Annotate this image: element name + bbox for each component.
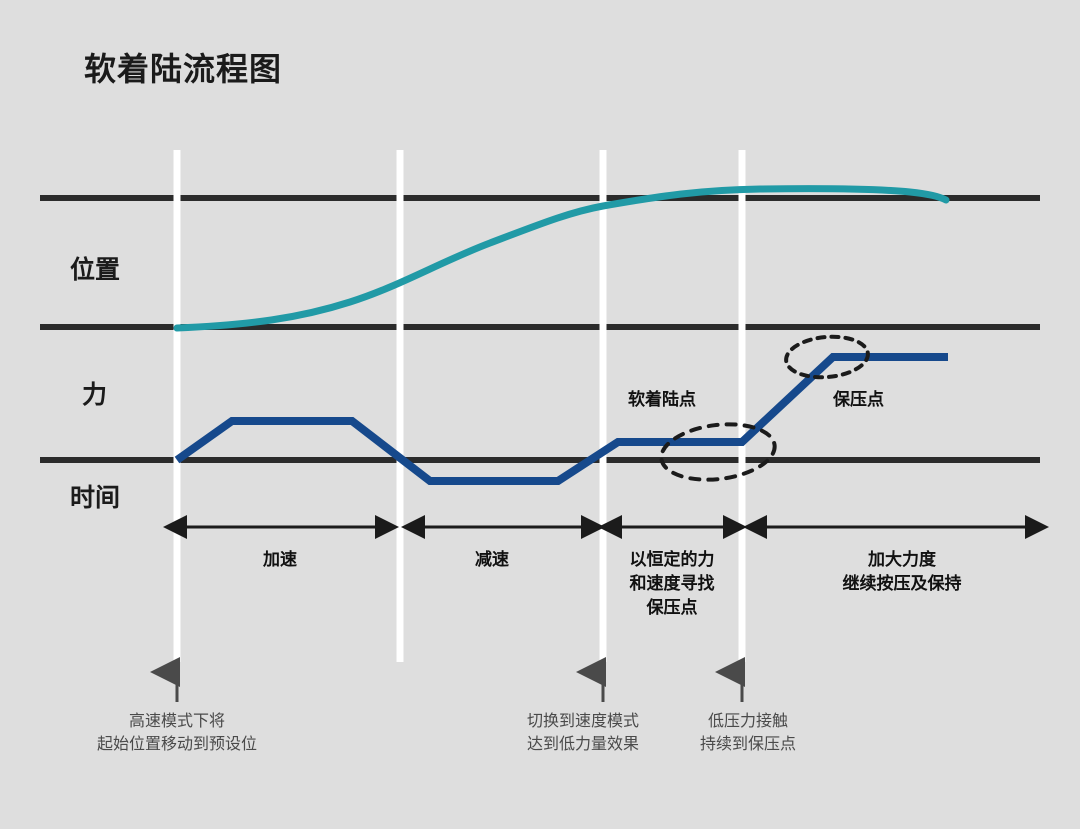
flow-chart-svg <box>0 0 1080 829</box>
phase-label-accelerate: 加速 <box>200 548 360 572</box>
callout-soft-landing-point: 软着陆点 <box>628 385 696 410</box>
axis-label-time: 时间 <box>70 478 120 514</box>
event-arrows <box>177 672 742 702</box>
phase-label-increase-force-hold: 加大力度 继续按压及保持 <box>792 548 1012 596</box>
note-switch-to-speed-mode: 切换到速度模式 达到低力量效果 <box>498 710 668 756</box>
note-start-position-move: 高速模式下将 起始位置移动到预设位 <box>77 710 277 756</box>
note-low-force-contact: 低压力接触 持续到保压点 <box>672 710 824 756</box>
axis-label-force: 力 <box>82 375 107 411</box>
axis-label-position: 位置 <box>70 250 120 286</box>
callout-hold-pressure-point: 保压点 <box>833 385 884 410</box>
position-curve <box>177 189 946 328</box>
diagram-canvas: 软着陆流程图 <box>0 0 1080 829</box>
phase-label-constant-force-search: 以恒定的力 和速度寻找 保压点 <box>592 548 752 620</box>
phase-label-decelerate: 减速 <box>412 548 572 572</box>
